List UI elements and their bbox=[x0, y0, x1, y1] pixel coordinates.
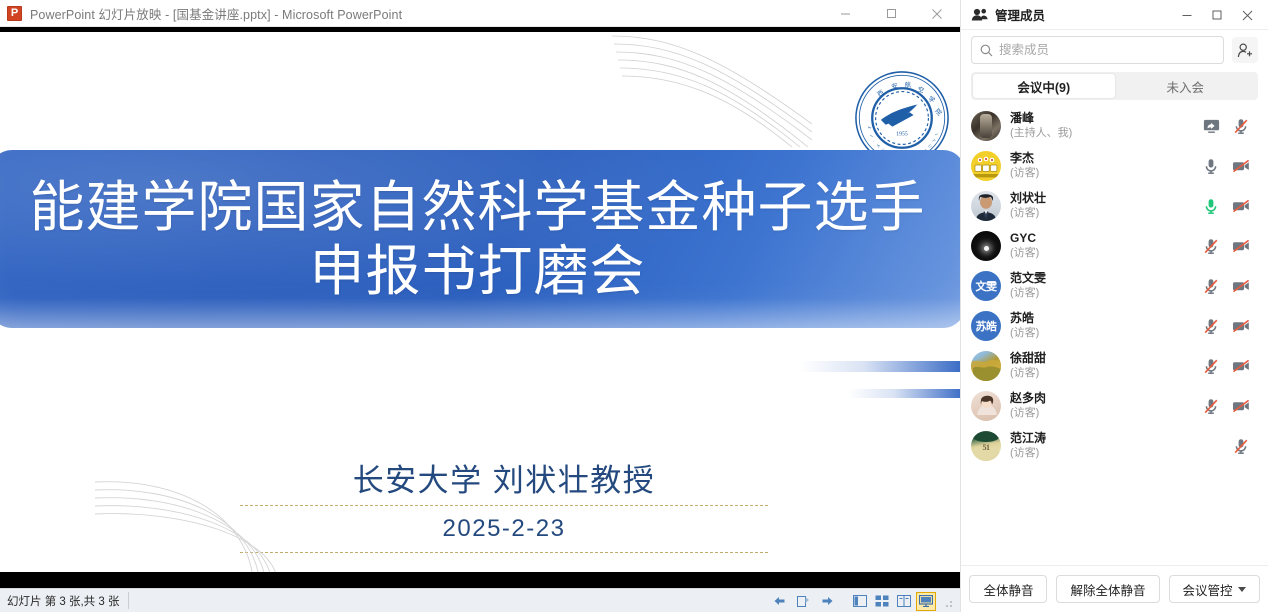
mic-shape bbox=[1203, 158, 1219, 175]
decorative-fan-lines-top bbox=[612, 32, 812, 147]
member-info: 徐甜甜(访客) bbox=[1010, 351, 1046, 380]
camera-muted-icon[interactable] bbox=[1226, 359, 1256, 373]
avatar: 文雯 bbox=[971, 271, 1001, 301]
normal-view-icon[interactable] bbox=[850, 592, 870, 611]
maximize-icon[interactable] bbox=[1202, 0, 1232, 30]
powerpoint-titlebar[interactable]: P PowerPoint 幻灯片放映 - [国基金讲座.pptx] - Micr… bbox=[0, 0, 960, 27]
member-row[interactable]: 刘状壮(访客) bbox=[961, 186, 1268, 226]
svg-text:航: 航 bbox=[905, 80, 912, 89]
mic-shape bbox=[1233, 438, 1249, 455]
camera-muted-icon[interactable] bbox=[1226, 279, 1256, 293]
member-info: 李杰(访客) bbox=[1010, 151, 1039, 180]
camera-muted-icon[interactable] bbox=[1226, 159, 1256, 173]
decorative-fan-lines-bottom bbox=[95, 468, 355, 572]
slideshow-view-icon[interactable] bbox=[916, 592, 936, 611]
avatar bbox=[971, 151, 1001, 181]
member-row[interactable]: 徐甜甜(访客) bbox=[961, 346, 1268, 386]
search-input[interactable] bbox=[999, 43, 1215, 57]
unmute-all-button[interactable]: 解除全体静音 bbox=[1056, 575, 1159, 603]
camera-muted-icon[interactable] bbox=[1226, 199, 1256, 213]
member-info: 范江涛(访客) bbox=[1010, 431, 1046, 460]
member-role: (访客) bbox=[1010, 446, 1046, 460]
avatar bbox=[971, 111, 1001, 141]
mic-shape bbox=[1203, 278, 1219, 295]
member-row[interactable]: 赵多肉(访客) bbox=[961, 386, 1268, 426]
avatar: 苏皓 bbox=[971, 311, 1001, 341]
resize-grip-icon[interactable] bbox=[942, 594, 954, 608]
member-info: 刘状壮(访客) bbox=[1010, 191, 1046, 220]
member-name: 苏皓 bbox=[1010, 311, 1039, 326]
member-row-icons bbox=[1196, 426, 1256, 466]
members-panel-footer: 全体静音 解除全体静音 会议管控 bbox=[961, 565, 1268, 612]
mic-shape bbox=[1233, 118, 1249, 135]
mute-all-button[interactable]: 全体静音 bbox=[969, 575, 1047, 603]
svg-text:安: 安 bbox=[890, 81, 899, 92]
svg-text:T: T bbox=[931, 138, 937, 143]
svg-text:西: 西 bbox=[876, 88, 886, 98]
svg-text:I: I bbox=[869, 133, 874, 137]
member-role: (访客) bbox=[1010, 206, 1046, 220]
minimize-icon[interactable] bbox=[1172, 0, 1202, 30]
slide-title-band: 能建学院国家自然科学基金种子选手 申报书打磨会 bbox=[0, 150, 960, 328]
mic-shape bbox=[1203, 318, 1219, 335]
member-list[interactable]: 潘峰(主持人、我)李杰(访客)刘状壮(访客)GYC(访客)文雯范文雯(访客)苏皓… bbox=[961, 100, 1268, 565]
members-search-row bbox=[961, 30, 1268, 70]
member-row[interactable]: 苏皓苏皓(访客) bbox=[961, 306, 1268, 346]
avatar bbox=[971, 231, 1001, 261]
next-slide-icon[interactable] bbox=[815, 591, 839, 612]
microphone-muted-icon[interactable] bbox=[1196, 318, 1226, 335]
camera-shape bbox=[1232, 199, 1250, 213]
member-role: (访客) bbox=[1010, 326, 1039, 340]
statusbar-right-controls bbox=[767, 589, 954, 612]
screen-share-shape bbox=[1203, 119, 1220, 133]
powerpoint-window-title: PowerPoint 幻灯片放映 - [国基金讲座.pptx] - Micros… bbox=[30, 4, 402, 23]
reading-view-icon[interactable] bbox=[894, 592, 914, 611]
member-name: 徐甜甜 bbox=[1010, 351, 1046, 366]
member-row-icons bbox=[1196, 106, 1256, 146]
member-row-icons bbox=[1196, 386, 1256, 426]
slide-title-line-2: 申报书打磨会 bbox=[309, 239, 645, 303]
camera-muted-icon[interactable] bbox=[1226, 239, 1256, 253]
member-row[interactable]: 潘峰(主持人、我) bbox=[961, 106, 1268, 146]
tab-in-meeting[interactable]: 会议中(9) bbox=[973, 74, 1115, 98]
member-info: GYC(访客) bbox=[1010, 231, 1039, 260]
microphone-muted-icon[interactable] bbox=[1196, 278, 1226, 295]
member-row-icons bbox=[1196, 146, 1256, 186]
screen-share-icon[interactable] bbox=[1196, 119, 1226, 133]
member-info: 赵多肉(访客) bbox=[1010, 391, 1046, 420]
svg-text:X: X bbox=[867, 125, 873, 130]
slide-sorter-icon[interactable] bbox=[872, 592, 892, 611]
tab-not-joined[interactable]: 未入会 bbox=[1115, 74, 1257, 98]
pen-icon[interactable] bbox=[791, 591, 815, 612]
avatar bbox=[971, 391, 1001, 421]
mute-all-label: 全体静音 bbox=[983, 580, 1033, 599]
member-row-icons bbox=[1196, 226, 1256, 266]
search-box[interactable] bbox=[971, 36, 1224, 64]
unmute-all-label: 解除全体静音 bbox=[1070, 580, 1145, 599]
member-row-icons bbox=[1196, 266, 1256, 306]
member-role: (访客) bbox=[1010, 246, 1039, 260]
search-icon bbox=[980, 44, 993, 57]
svg-text:51: 51 bbox=[983, 443, 991, 452]
svg-text:I: I bbox=[934, 133, 939, 137]
camera-shape bbox=[1232, 159, 1250, 173]
manage-members-panel: 管理成员 bbox=[960, 0, 1268, 612]
camera-muted-icon[interactable] bbox=[1226, 399, 1256, 413]
microphone-muted-icon[interactable] bbox=[1226, 118, 1256, 135]
prev-slide-icon[interactable] bbox=[767, 591, 791, 612]
camera-shape bbox=[1232, 319, 1250, 333]
camera-shape bbox=[1232, 239, 1250, 253]
member-info: 范文雯(访客) bbox=[1010, 271, 1046, 300]
svg-text:空: 空 bbox=[917, 84, 925, 94]
member-info: 潘峰(主持人、我) bbox=[1010, 111, 1072, 140]
member-name: 李杰 bbox=[1010, 151, 1039, 166]
close-icon[interactable] bbox=[914, 0, 960, 27]
slide-canvas[interactable]: 1955 西 安 航 空 学 院 X I ' A N bbox=[0, 32, 960, 572]
microphone-icon[interactable] bbox=[1196, 158, 1226, 175]
slide-title-line-1: 能建学院国家自然科学基金种子选手 bbox=[29, 175, 925, 239]
member-name: 赵多肉 bbox=[1010, 391, 1046, 406]
microphone-muted-icon[interactable] bbox=[1226, 438, 1256, 455]
member-role: (访客) bbox=[1010, 166, 1039, 180]
microphone-muted-icon[interactable] bbox=[1196, 358, 1226, 375]
mic-shape bbox=[1203, 358, 1219, 375]
member-name: 潘峰 bbox=[1010, 111, 1072, 126]
svg-text:院: 院 bbox=[933, 106, 944, 117]
avatar bbox=[971, 191, 1001, 221]
member-name: 刘状壮 bbox=[1010, 191, 1046, 206]
member-row-icons bbox=[1196, 186, 1256, 226]
add-person-icon[interactable] bbox=[1232, 37, 1258, 63]
svg-text:1955: 1955 bbox=[896, 131, 908, 137]
member-row[interactable]: 文雯范文雯(访客) bbox=[961, 266, 1268, 306]
member-role: (主持人、我) bbox=[1010, 126, 1072, 140]
member-role: (访客) bbox=[1010, 366, 1046, 380]
avatar bbox=[971, 351, 1001, 381]
camera-muted-icon[interactable] bbox=[1226, 319, 1256, 333]
microphone-active-icon[interactable] bbox=[1196, 198, 1226, 215]
svg-text:': ' bbox=[872, 140, 876, 144]
avatar: 51 bbox=[971, 431, 1001, 461]
meeting-control-button[interactable]: 会议管控 bbox=[1169, 575, 1260, 603]
mic-shape bbox=[1203, 198, 1219, 215]
slideshow-stage[interactable]: 1955 西 安 航 空 学 院 X I ' A N bbox=[0, 27, 960, 588]
powerpoint-app-icon: P bbox=[7, 6, 22, 21]
member-row[interactable]: 李杰(访客) bbox=[961, 146, 1268, 186]
meeting-control-label: 会议管控 bbox=[1183, 580, 1233, 599]
camera-shape bbox=[1232, 399, 1250, 413]
microphone-muted-icon[interactable] bbox=[1196, 238, 1226, 255]
powerpoint-window: P PowerPoint 幻灯片放映 - [国基金讲座.pptx] - Micr… bbox=[0, 0, 960, 612]
slide-count-label: 幻灯片 第 3 张,共 3 张 bbox=[0, 592, 129, 609]
member-role: (访客) bbox=[1010, 406, 1046, 420]
microphone-muted-icon[interactable] bbox=[1196, 398, 1226, 415]
member-row-icons bbox=[1196, 306, 1256, 346]
member-row-icons bbox=[1196, 346, 1256, 386]
mic-shape bbox=[1203, 238, 1219, 255]
close-icon[interactable] bbox=[1232, 0, 1262, 30]
member-row[interactable]: GYC(访客) bbox=[961, 226, 1268, 266]
powerpoint-statusbar: 幻灯片 第 3 张,共 3 张 bbox=[0, 588, 960, 612]
member-info: 苏皓(访客) bbox=[1010, 311, 1039, 340]
camera-shape bbox=[1232, 359, 1250, 373]
decorative-gradient-bar-2 bbox=[848, 389, 960, 398]
decorative-gradient-bar-1 bbox=[800, 361, 960, 372]
svg-text:A: A bbox=[875, 142, 881, 148]
members-panel-title: 管理成员 bbox=[995, 5, 1045, 24]
member-name: 范文雯 bbox=[1010, 271, 1046, 286]
member-name: GYC bbox=[1010, 231, 1039, 246]
camera-shape bbox=[1232, 279, 1250, 293]
member-role: (访客) bbox=[1010, 286, 1046, 300]
members-tabs: 会议中(9) 未入会 bbox=[971, 72, 1258, 100]
minimize-icon[interactable] bbox=[822, 0, 868, 27]
people-icon bbox=[971, 8, 988, 21]
maximize-icon[interactable] bbox=[868, 0, 914, 27]
member-row[interactable]: 51范江涛(访客) bbox=[961, 426, 1268, 466]
member-name: 范江涛 bbox=[1010, 431, 1046, 446]
mic-shape bbox=[1203, 398, 1219, 415]
chevron-down-icon bbox=[1238, 587, 1246, 592]
members-panel-titlebar[interactable]: 管理成员 bbox=[961, 0, 1268, 30]
